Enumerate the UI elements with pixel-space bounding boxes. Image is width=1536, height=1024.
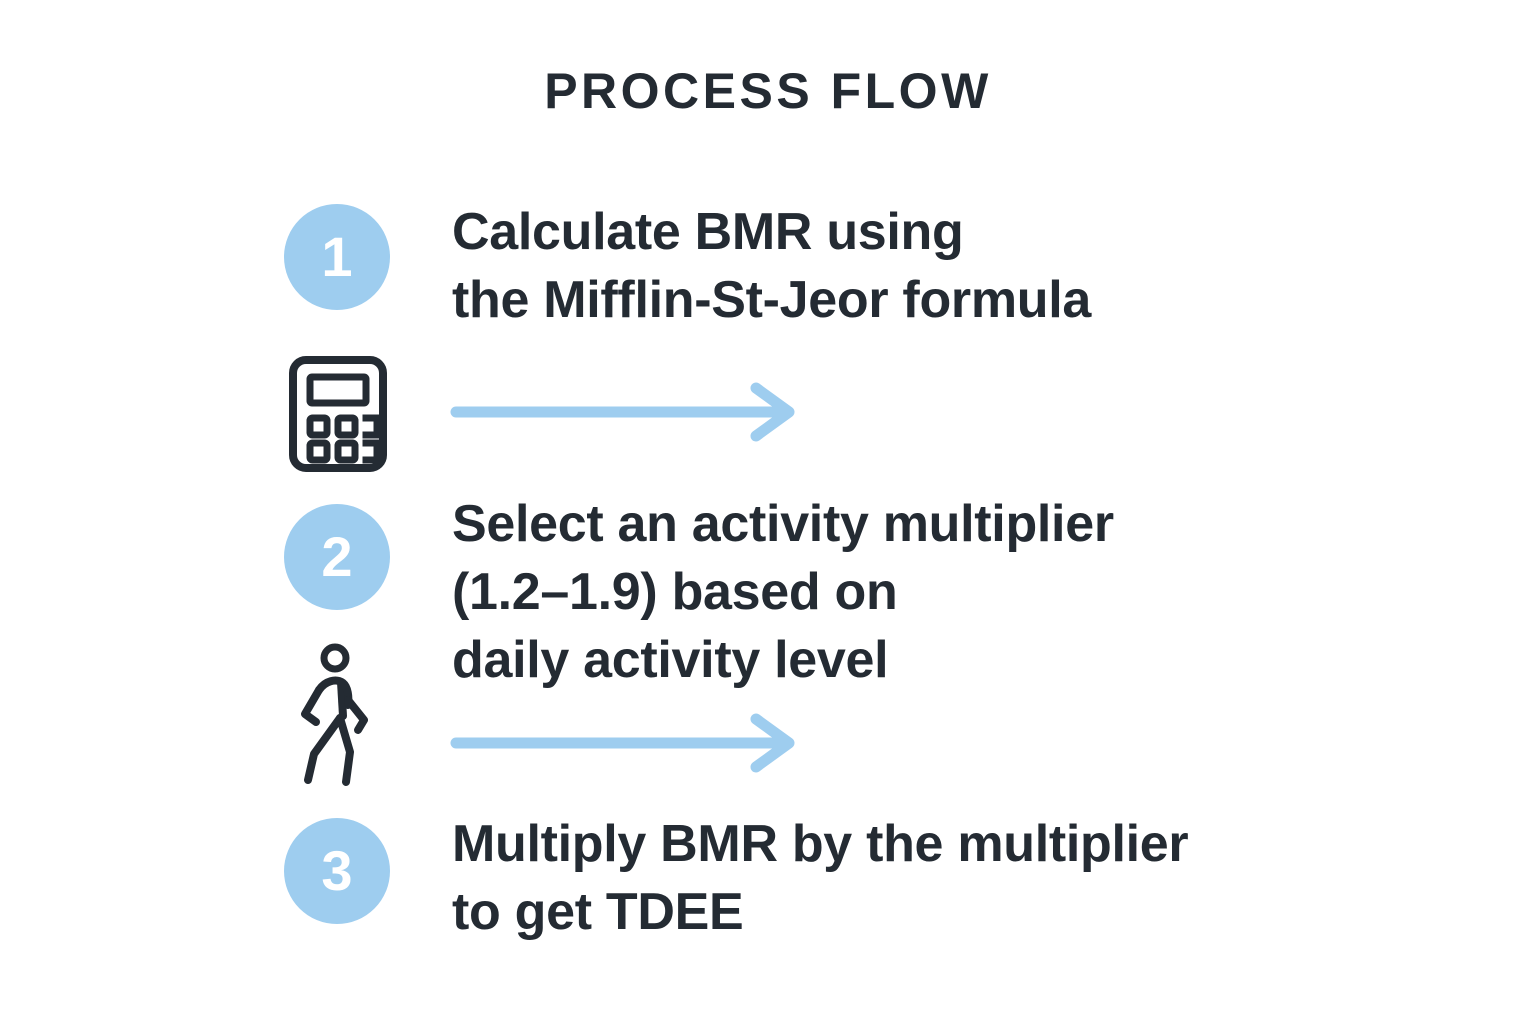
step-1-line-1: Calculate BMR using	[452, 198, 1091, 266]
step-2-line-1: Select an activity multiplier	[452, 490, 1114, 558]
step-3-line-1: Multiply BMR by the multiplier	[452, 810, 1188, 878]
step-description-3: Multiply BMR by the multiplier to get TD…	[452, 810, 1188, 946]
step-3-line-2: to get TDEE	[452, 878, 1188, 946]
step-number-badge-2: 2	[284, 504, 390, 610]
connector-2	[284, 640, 800, 796]
step-number-badge-3: 3	[284, 818, 390, 924]
step-description-1: Calculate BMR using the Mifflin-St-Jeor …	[452, 198, 1091, 334]
arrow-right-icon-1	[450, 381, 800, 448]
connector-1	[284, 352, 800, 476]
process-step-3: 3 Multiply BMR by the multiplier to get …	[284, 812, 1188, 946]
step-2-line-2: (1.2–1.9) based on	[452, 558, 1114, 626]
calculator-icon	[284, 352, 392, 476]
step-number-badge-1: 1	[284, 204, 390, 310]
page-title: PROCESS FLOW	[0, 66, 1536, 116]
process-flow-canvas: PROCESS FLOW 1 Calculate BMR using the M…	[0, 0, 1536, 1024]
walking-person-icon	[284, 640, 392, 796]
process-step-1: 1 Calculate BMR using the Mifflin-St-Jeo…	[284, 200, 1091, 334]
step-1-line-2: the Mifflin-St-Jeor formula	[452, 266, 1091, 334]
arrow-right-icon-2	[450, 712, 800, 779]
